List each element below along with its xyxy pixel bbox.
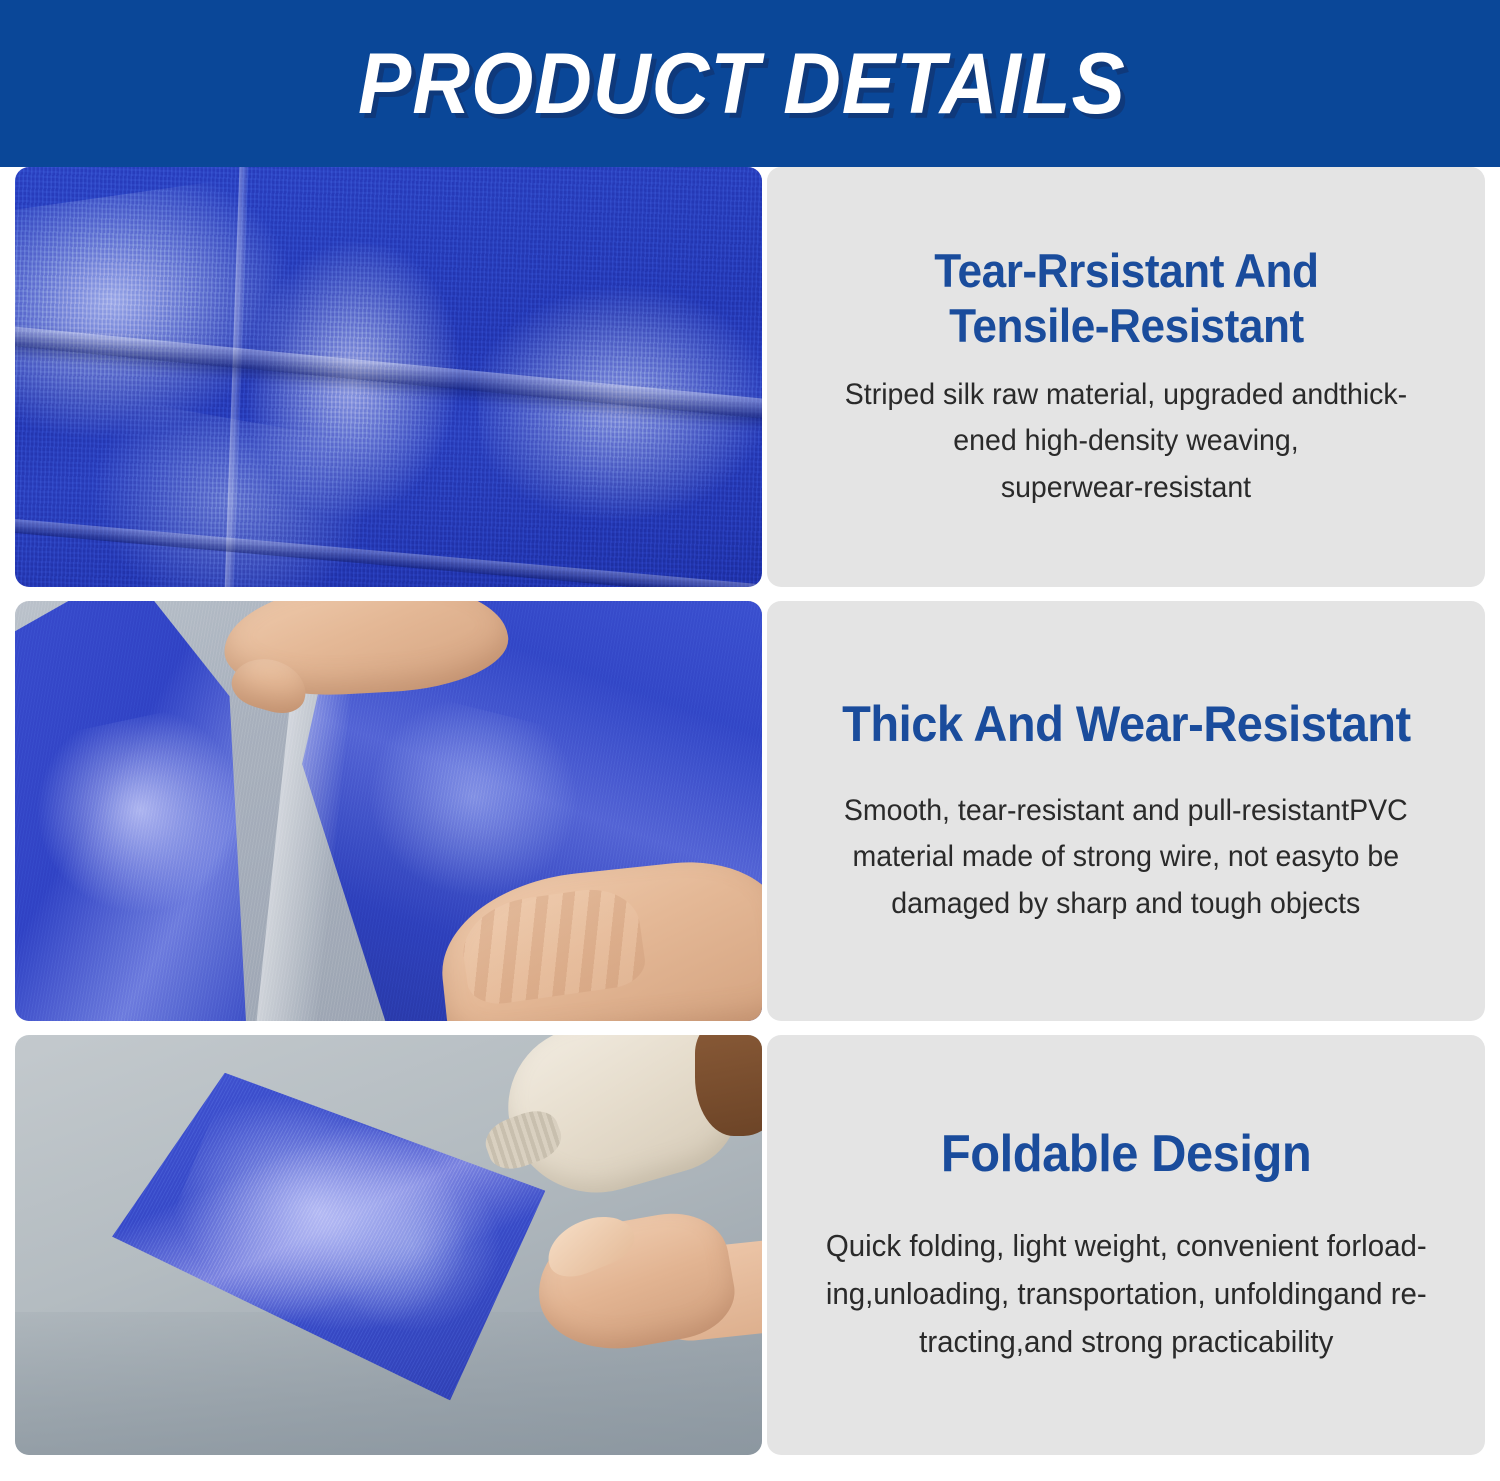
- feature-description: Striped silk raw material, upgraded andt…: [845, 372, 1407, 512]
- feature-image-wear-resistant: [15, 601, 762, 1021]
- product-details-page: PRODUCT DETAILS Tear-Rrsistant And Tensi…: [0, 0, 1500, 1481]
- feature-row-wear-resistant: Thick And Wear-Resistant Smooth, tear-re…: [0, 601, 1500, 1021]
- feature-image-foldable-design: [15, 1035, 762, 1455]
- feature-heading: Tear-Rrsistant And Tensile-Resistant: [934, 243, 1318, 354]
- page-header-banner: PRODUCT DETAILS: [0, 0, 1500, 167]
- feature-heading: Thick And Wear-Resistant: [842, 695, 1411, 754]
- feature-image-tear-resistant: [15, 167, 762, 587]
- feature-text-panel-tear-resistant: Tear-Rrsistant And Tensile-Resistant Str…: [767, 167, 1485, 587]
- feature-text-panel-wear-resistant: Thick And Wear-Resistant Smooth, tear-re…: [767, 601, 1485, 1021]
- feature-rows: Tear-Rrsistant And Tensile-Resistant Str…: [0, 167, 1500, 1469]
- feature-row-tear-resistant: Tear-Rrsistant And Tensile-Resistant Str…: [0, 167, 1500, 587]
- feature-description: Smooth, tear-resistant and pull-resistan…: [844, 788, 1408, 928]
- feature-description: Quick folding, light weight, convenient …: [826, 1222, 1427, 1366]
- feature-heading: Foldable Design: [941, 1124, 1311, 1185]
- feature-text-panel-foldable-design: Foldable Design Quick folding, light wei…: [767, 1035, 1485, 1455]
- page-title: PRODUCT DETAILS: [358, 41, 1126, 127]
- feature-row-foldable-design: Foldable Design Quick folding, light wei…: [0, 1035, 1500, 1455]
